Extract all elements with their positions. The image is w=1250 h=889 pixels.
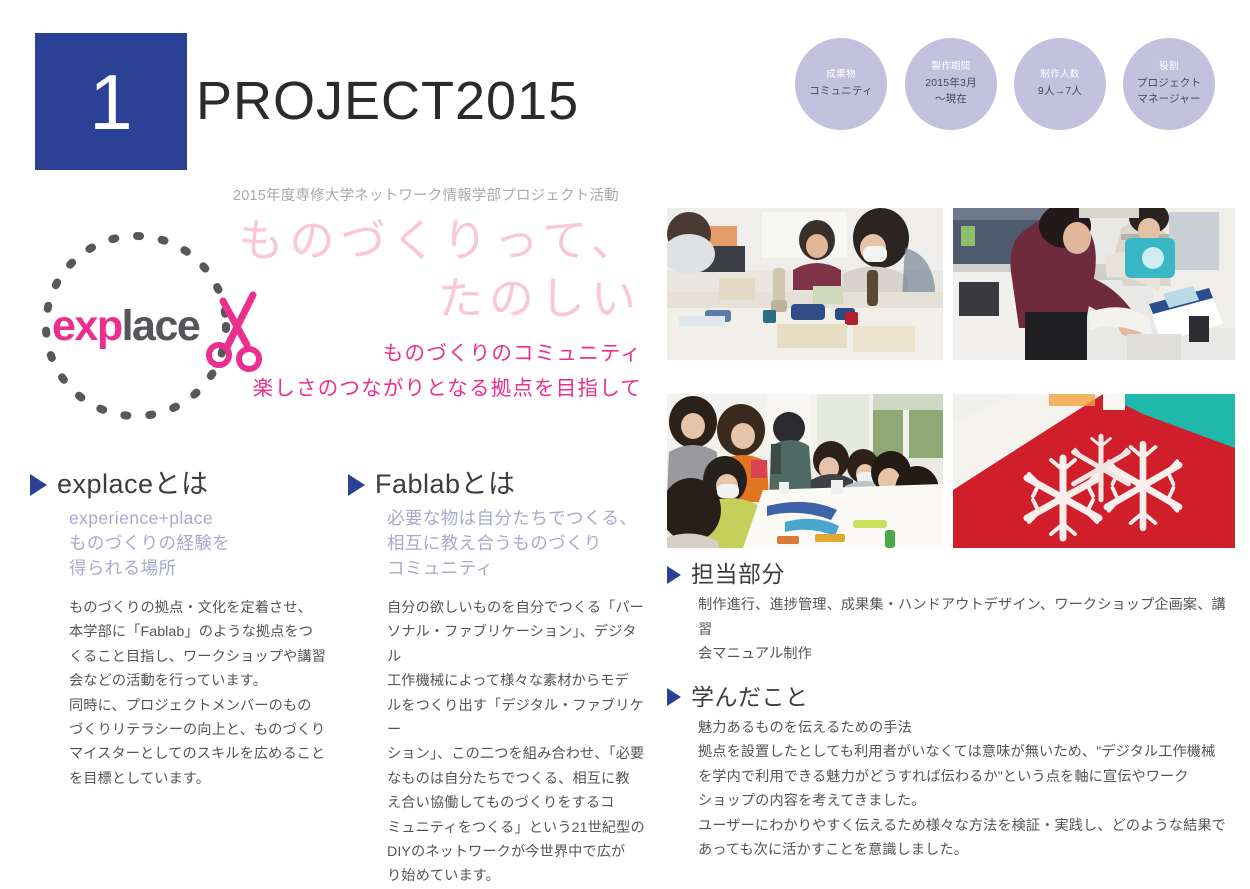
page-subtitle: 2015年度専修大学ネットワーク情報学部プロジェクト活動: [233, 184, 619, 205]
badge-role: 役割 プロジェクト マネージャー: [1123, 38, 1215, 130]
hero-line-2: たのしい: [238, 270, 642, 328]
badge-deliverable: 成果物 コミュニティ: [795, 38, 887, 130]
photo-students-device: [953, 208, 1235, 360]
badge-value: 9人→7人: [1038, 84, 1082, 99]
triangle-bullet-icon: [667, 566, 681, 584]
hero-headline: ものづくりって、 たのしい: [238, 212, 642, 327]
logo-text-lace: lace: [122, 302, 200, 350]
section-title: explaceとは: [57, 470, 209, 500]
section-role: 担当部分 制作進行、進捗管理、成果集・ハンドアウトデザイン、ワークショップ企画案…: [667, 562, 1237, 667]
photo-workshop-table: [667, 208, 943, 360]
section-title: Fablabとは: [375, 470, 516, 500]
section-heading-explace: explaceとは: [30, 470, 330, 500]
section-body: 自分の欲しいものを自分でつくる「パー ソナル・ファブリケーション」、デジタル 工…: [387, 596, 648, 889]
photo-classroom-group: [667, 394, 943, 548]
hero-sub-line-2: 楽しさのつながりとなる拠点を目指して: [253, 371, 642, 406]
badge-label: 制作人数: [1040, 69, 1079, 81]
section-title: 学んだこと: [691, 685, 809, 710]
section-learned: 学んだこと 魅力あるものを伝えるための手法 拠点を設置したとしても利用者がいなく…: [667, 685, 1237, 863]
project-number: 1: [89, 63, 132, 141]
photo-paper-snowflakes: [953, 394, 1235, 548]
section-heading-fablab: Fablabとは: [348, 470, 648, 500]
badge-value: 2015年3月 ～現在: [925, 76, 977, 106]
meta-badge-group: 成果物 コミュニティ 製作期間 2015年3月 ～現在 制作人数 9人→7人 役…: [795, 38, 1235, 138]
photo-grid: [667, 208, 1235, 548]
badge-value: コミュニティ: [809, 84, 873, 99]
section-explace: explaceとは experience+place ものづくりの経験を 得られ…: [30, 470, 330, 791]
section-divider-space: [667, 667, 1237, 685]
section-body: ものづくりの拠点・文化を定着させ、 本学部に「Fablab」のような拠点をつ く…: [69, 596, 330, 791]
section-right-column: 担当部分 制作進行、進捗管理、成果集・ハンドアウトデザイン、ワークショップ企画案…: [667, 562, 1237, 862]
hero-subhead: ものづくりのコミュニティ 楽しさのつながりとなる拠点を目指して: [253, 336, 642, 407]
section-lead: experience+place ものづくりの経験を 得られる場所: [69, 506, 330, 582]
section-heading-learned: 学んだこと: [667, 685, 1237, 710]
badge-value: プロジェクト マネージャー: [1137, 76, 1201, 106]
triangle-bullet-icon: [667, 688, 681, 706]
triangle-bullet-icon: [348, 474, 365, 496]
hero-line-1: ものづくりって、: [238, 212, 642, 270]
logo-wordmark: explace: [52, 305, 199, 348]
section-title: 担当部分: [691, 562, 785, 587]
page-title: PROJECT2015: [196, 70, 579, 132]
section-heading-role: 担当部分: [667, 562, 1237, 587]
explace-logo: explace: [38, 228, 234, 424]
badge-label: 製作期間: [931, 61, 970, 73]
badge-headcount: 制作人数 9人→7人: [1014, 38, 1106, 130]
project-number-box: 1: [35, 33, 187, 170]
section-body: 魅力あるものを伝えるための手法 拠点を設置したとしても利用者がいなくては意味が無…: [698, 716, 1237, 863]
section-lead: 必要な物は自分たちでつくる、 相互に教え合うものづくり コミュニティ: [387, 506, 648, 582]
logo-text-exp: exp: [52, 302, 122, 350]
badge-label: 役割: [1159, 61, 1179, 73]
section-fablab: Fablabとは 必要な物は自分たちでつくる、 相互に教え合うものづくり コミュ…: [348, 470, 648, 889]
badge-label: 成果物: [826, 69, 855, 81]
triangle-bullet-icon: [30, 474, 47, 496]
badge-period: 製作期間 2015年3月 ～現在: [905, 38, 997, 130]
section-body: 制作進行、進捗管理、成果集・ハンドアウトデザイン、ワークショップ企画案、講習 会…: [698, 593, 1237, 666]
hero-sub-line-1: ものづくりのコミュニティ: [253, 336, 642, 371]
